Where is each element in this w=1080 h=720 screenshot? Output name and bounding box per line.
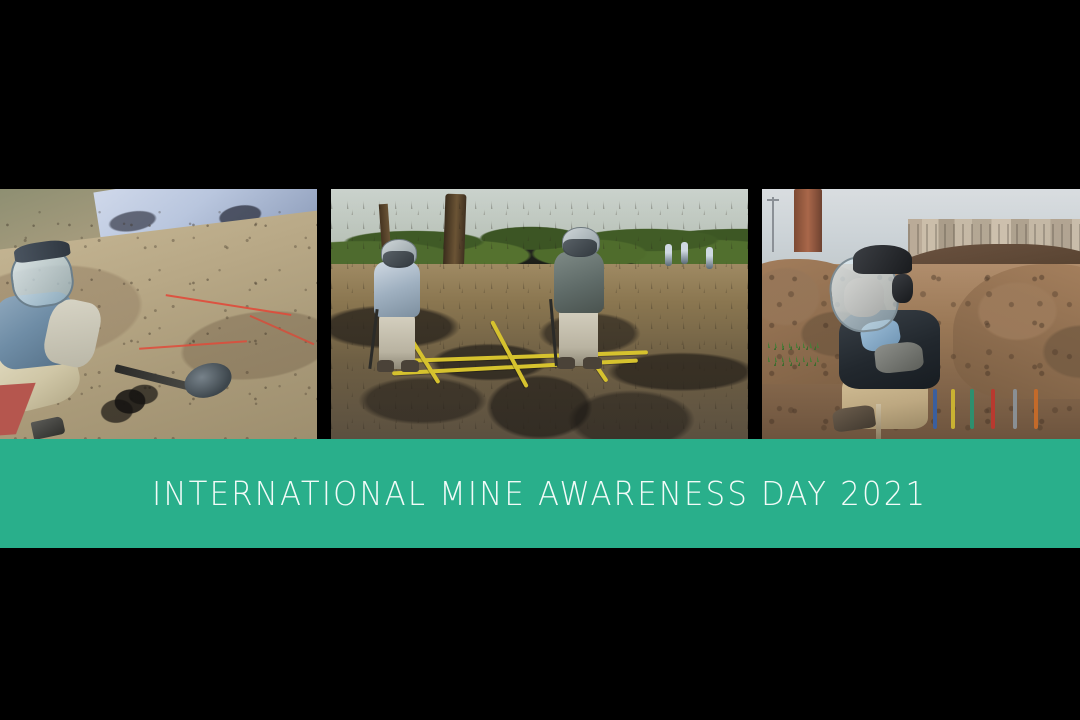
banner-title: INTERNATIONAL MINE AWARENESS DAY 2021 — [152, 474, 927, 513]
body-armour-vest — [374, 262, 420, 317]
marker-stake — [991, 389, 995, 429]
marker-stake — [933, 389, 937, 429]
panel-divider — [317, 189, 331, 439]
scene-partnership — [331, 189, 748, 439]
poster-canvas: PROGRESS — [0, 0, 1080, 720]
marker-stake — [951, 389, 955, 429]
boot — [401, 360, 419, 372]
boot — [557, 357, 576, 370]
brick-tower — [794, 189, 823, 252]
photo-panel-progress: PROGRESS — [0, 189, 317, 439]
panel-divider — [748, 189, 762, 439]
debris-tangle — [92, 371, 167, 433]
distant-deminer — [665, 244, 672, 266]
body-armour-vest — [554, 252, 604, 314]
detector-probe — [368, 309, 378, 369]
deminer-figure-right — [548, 227, 611, 367]
grass-tuft — [768, 334, 819, 369]
helmet — [853, 245, 912, 274]
boot — [377, 360, 395, 372]
deminer-figure-left — [369, 239, 427, 369]
photo-strip: PROGRESS — [0, 189, 1080, 439]
face-visor — [563, 239, 597, 257]
survey-stake — [876, 404, 881, 439]
distant-deminer — [681, 242, 688, 264]
boot — [583, 357, 602, 370]
photo-panel-partnership: PARTNERSHIP — [331, 189, 748, 439]
distant-deminer — [706, 247, 713, 269]
scene-progress — [0, 189, 317, 439]
title-banner: INTERNATIONAL MINE AWARENESS DAY 2021 — [0, 439, 1080, 548]
work-glove — [874, 340, 924, 374]
face-visor — [383, 251, 415, 268]
ear-defender — [892, 274, 913, 303]
marker-stake — [970, 389, 974, 429]
scene-perseverance — [762, 189, 1080, 439]
marker-stake — [1013, 389, 1017, 429]
marker-stakes — [927, 389, 1061, 429]
photo-panel-perseverance: PERSEVE — [762, 189, 1080, 439]
utility-pole — [772, 197, 774, 252]
marker-stake — [1034, 389, 1038, 429]
